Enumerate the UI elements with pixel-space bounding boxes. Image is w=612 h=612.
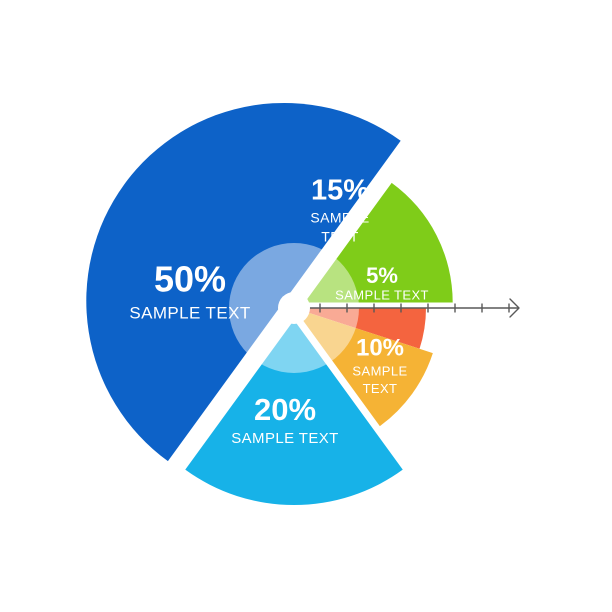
slice-15-percent: 15% [311,175,369,207]
slice-20-percent: 20% [254,392,316,427]
pie-chart: 50%SAMPLE TEXT20%SAMPLE TEXT15%SAMPLETEX… [0,0,612,612]
center-hub-circle [278,292,310,324]
slice-15-label: SAMPLE [310,210,369,226]
slice-50-label: SAMPLE TEXT [129,303,250,322]
slice-10-label-line2: TEXT [363,381,398,396]
slice-20-label: SAMPLE TEXT [231,430,339,447]
slice-50-percent: 50% [154,259,226,300]
slice-10-percent: 10% [356,334,404,361]
slice-5-label: SAMPLE TEXT [335,287,429,302]
slice-10-label: SAMPLE [352,363,407,378]
slice-5-percent: 5% [366,263,398,288]
infographic-canvas: 50%SAMPLE TEXT20%SAMPLE TEXT15%SAMPLETEX… [0,0,612,612]
slice-15-label-line2: TEXT [321,229,358,245]
